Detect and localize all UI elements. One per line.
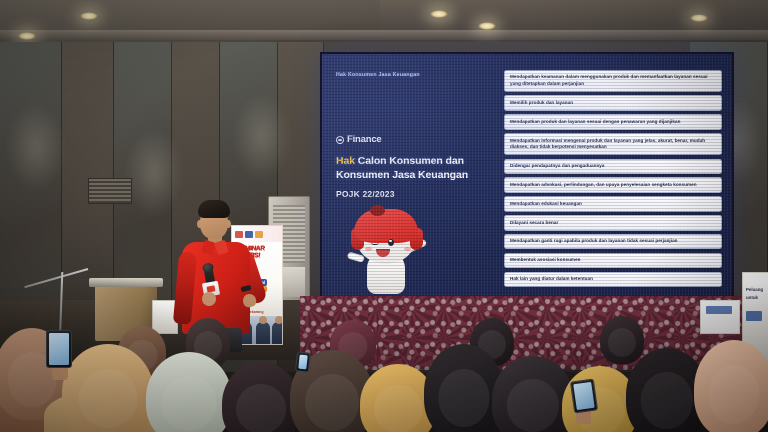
banner-person-3 bbox=[272, 322, 283, 344]
slide-title-highlight: Hak bbox=[336, 155, 355, 167]
led-presentation-screen[interactable]: Hak Konsumen Jasa Keuangan Finance Hak C… bbox=[320, 52, 734, 298]
slide-eyebrow: Hak Konsumen Jasa Keuangan bbox=[336, 72, 420, 78]
ceiling-beam bbox=[0, 30, 768, 40]
right-item: Mendapatkan informasi mengenai produk da… bbox=[504, 133, 722, 155]
audience-head bbox=[62, 344, 154, 432]
consumer-rights-list: Mendapatkan keamanan dalam menggunakan p… bbox=[504, 70, 722, 287]
audience-phone-recording[interactable] bbox=[295, 351, 311, 372]
mascot-blush-left bbox=[365, 247, 372, 251]
audience-head bbox=[424, 344, 504, 432]
slide-regulation-code: POJK 22/2023 bbox=[336, 189, 496, 199]
right-item: Mendapatkan edukasi keuangan bbox=[504, 196, 722, 211]
right-item: Mendapatkan keamanan dalam menggunakan p… bbox=[504, 70, 722, 92]
right-item: Didengar pendapatnya dan pengaduannya bbox=[504, 159, 722, 174]
mascot-character-icon bbox=[350, 212, 424, 296]
audience-head bbox=[222, 362, 300, 432]
right-item: Memilih produk dan layanan bbox=[504, 95, 722, 110]
audience-phone-recording[interactable] bbox=[570, 378, 598, 413]
seminar-photo-scene: Hak Konsumen Jasa Keuangan Finance Hak C… bbox=[0, 0, 768, 432]
audience-head bbox=[600, 316, 644, 364]
ceiling-light-4 bbox=[690, 14, 708, 22]
ceiling-light-2 bbox=[430, 10, 448, 18]
banner-person-2 bbox=[256, 322, 270, 344]
right-item: Hak lain yang diatur dalam ketentuan bbox=[504, 272, 722, 287]
right-banner-line-1: Peluang bbox=[746, 287, 763, 292]
phone-screen bbox=[49, 333, 69, 365]
wall-vent-icon bbox=[88, 178, 132, 204]
phone-screen bbox=[298, 355, 307, 370]
mascot-blush-right bbox=[404, 247, 411, 251]
finance-brand-lockup: Finance bbox=[336, 134, 496, 145]
audience-head bbox=[694, 340, 768, 432]
circle-f-logo-icon bbox=[336, 136, 344, 144]
mascot-hair-top bbox=[354, 209, 418, 243]
presenter-left-hand bbox=[202, 292, 216, 306]
right-item: Mendapatkan ganti rugi apabila produk da… bbox=[504, 234, 722, 249]
podium-top-surface bbox=[89, 278, 163, 287]
right-banner-logo-icon bbox=[746, 311, 762, 321]
brand-name: Finance bbox=[347, 134, 382, 145]
right-item: Mendapatkan produk dan layanan sesuai de… bbox=[504, 114, 722, 129]
ceiling-light-3 bbox=[478, 22, 496, 30]
side-poster-logo-icon bbox=[706, 306, 732, 314]
right-banner-line-2: untuk bbox=[746, 295, 758, 300]
right-item: Mendapatkan advokasi, perlindungan, dan … bbox=[504, 177, 722, 192]
slide-title-line2: Konsumen Jasa Keuangan bbox=[336, 169, 468, 181]
mascot-open-eye-icon bbox=[388, 239, 394, 246]
ceiling-light-5 bbox=[18, 32, 36, 40]
phone-screen bbox=[573, 382, 594, 410]
presentation-slide: Hak Konsumen Jasa Keuangan Finance Hak C… bbox=[322, 54, 732, 296]
side-poster bbox=[700, 300, 740, 334]
presenter-hair bbox=[198, 200, 230, 218]
right-item: Membentuk asosiasi konsumen bbox=[504, 253, 722, 268]
slide-title-rest: Calon Konsumen dan bbox=[355, 155, 464, 167]
right-item: Dilayani secara benar bbox=[504, 215, 722, 230]
slide-title: Hak Calon Konsumen dan Konsumen Jasa Keu… bbox=[336, 155, 496, 183]
audience-phone-recording[interactable] bbox=[46, 330, 72, 368]
ceiling-light-1 bbox=[80, 12, 98, 20]
slide-left-column: Finance Hak Calon Konsumen dan Konsumen … bbox=[336, 134, 496, 199]
